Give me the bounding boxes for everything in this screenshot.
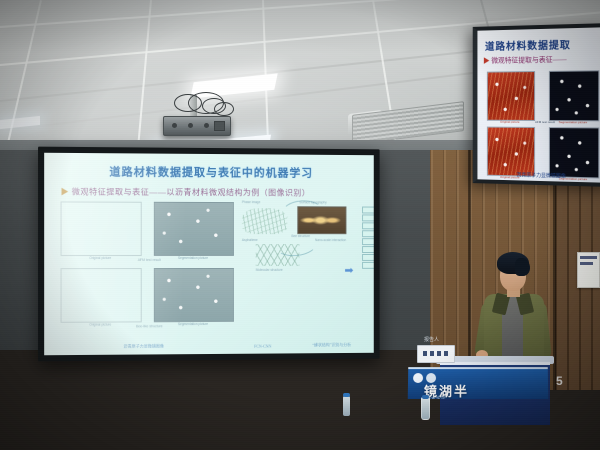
segmented-image	[154, 268, 234, 322]
diagram-label: Surface topography	[299, 200, 326, 204]
jacket-number: 5	[556, 374, 563, 388]
monitor-slide-title: 道路材料数据提取	[485, 35, 600, 53]
desk-name-label: 报告人	[424, 336, 439, 343]
flow-arrow-icon: ➡	[344, 264, 353, 277]
segmented-image	[549, 127, 599, 178]
mid-caption: AFM test result	[487, 120, 600, 125]
bullet-marker-icon: ▶	[61, 187, 70, 196]
audience: Other	[0, 352, 600, 450]
microscopy-image	[487, 127, 535, 177]
bullet-marker-icon: ▶	[483, 57, 490, 65]
slide-title: 道路材料数据提取与表征中的机器学习	[71, 163, 351, 181]
diagram-label: Phase image	[242, 200, 260, 204]
wall-notice-sign	[577, 252, 600, 288]
slide-footer-left: 沥青原子力显微镜图像	[63, 343, 224, 350]
monitor-image-grid: Original picture Segmentation picture AF…	[487, 70, 600, 183]
segmented-image	[549, 70, 599, 121]
slide-subtitle-text: 微观特征提取与表征——以沥青材料微观结构为例（图像识别）	[72, 187, 310, 197]
microscopy-image	[61, 268, 142, 323]
mid-caption: AFM test result	[61, 258, 237, 262]
diagram-label: Molecular structure	[256, 268, 283, 272]
monitor-slide-subtitle: ▶ 微观特征提取与表征——	[483, 55, 566, 66]
projection-screen: 道路材料数据提取与表征中的机器学习 ▶ 微观特征提取与表征——以沥青材料微观结构…	[38, 147, 380, 362]
microscopy-image	[61, 201, 142, 256]
diagram-label: Nano-scale interaction	[315, 238, 346, 242]
slide-diagram: Surface topography Bee structure Phase i…	[242, 200, 360, 320]
ceiling-projector	[163, 116, 231, 136]
slide-footer-right: “蜂状结构”识别与分析	[293, 342, 369, 348]
segmented-image	[154, 202, 234, 256]
monitor-slide: 道路材料数据提取 ▶ 微观特征提取与表征—— Original picture …	[477, 27, 600, 183]
microscopy-image	[487, 71, 535, 121]
wall-monitor: 道路材料数据提取 ▶ 微观特征提取与表征—— Original picture …	[473, 23, 600, 187]
slide-image-grid: Original picture Segmentation picture AF…	[61, 201, 237, 322]
mid-caption: Bee-like structure	[61, 324, 237, 329]
slide-footer-mid: FCN-CNN	[228, 343, 297, 348]
presentation-slide: 道路材料数据提取与表征中的机器学习 ▶ 微观特征提取与表征——以沥青材料微观结构…	[44, 153, 374, 355]
diagram-label: Asphaltene	[242, 238, 258, 242]
slide-subtitle: ▶ 微观特征提取与表征——以沥青材料微观结构为例（图像识别）	[61, 186, 370, 198]
lecture-hall-photo: 道路材料数据提取与表征中的机器学习 ▶ 微观特征提取与表征——以沥青材料微观结构…	[0, 0, 600, 450]
diagram-label: Bee structure	[291, 234, 310, 238]
monitor-subtitle-text: 微观特征提取与表征——	[491, 56, 566, 65]
